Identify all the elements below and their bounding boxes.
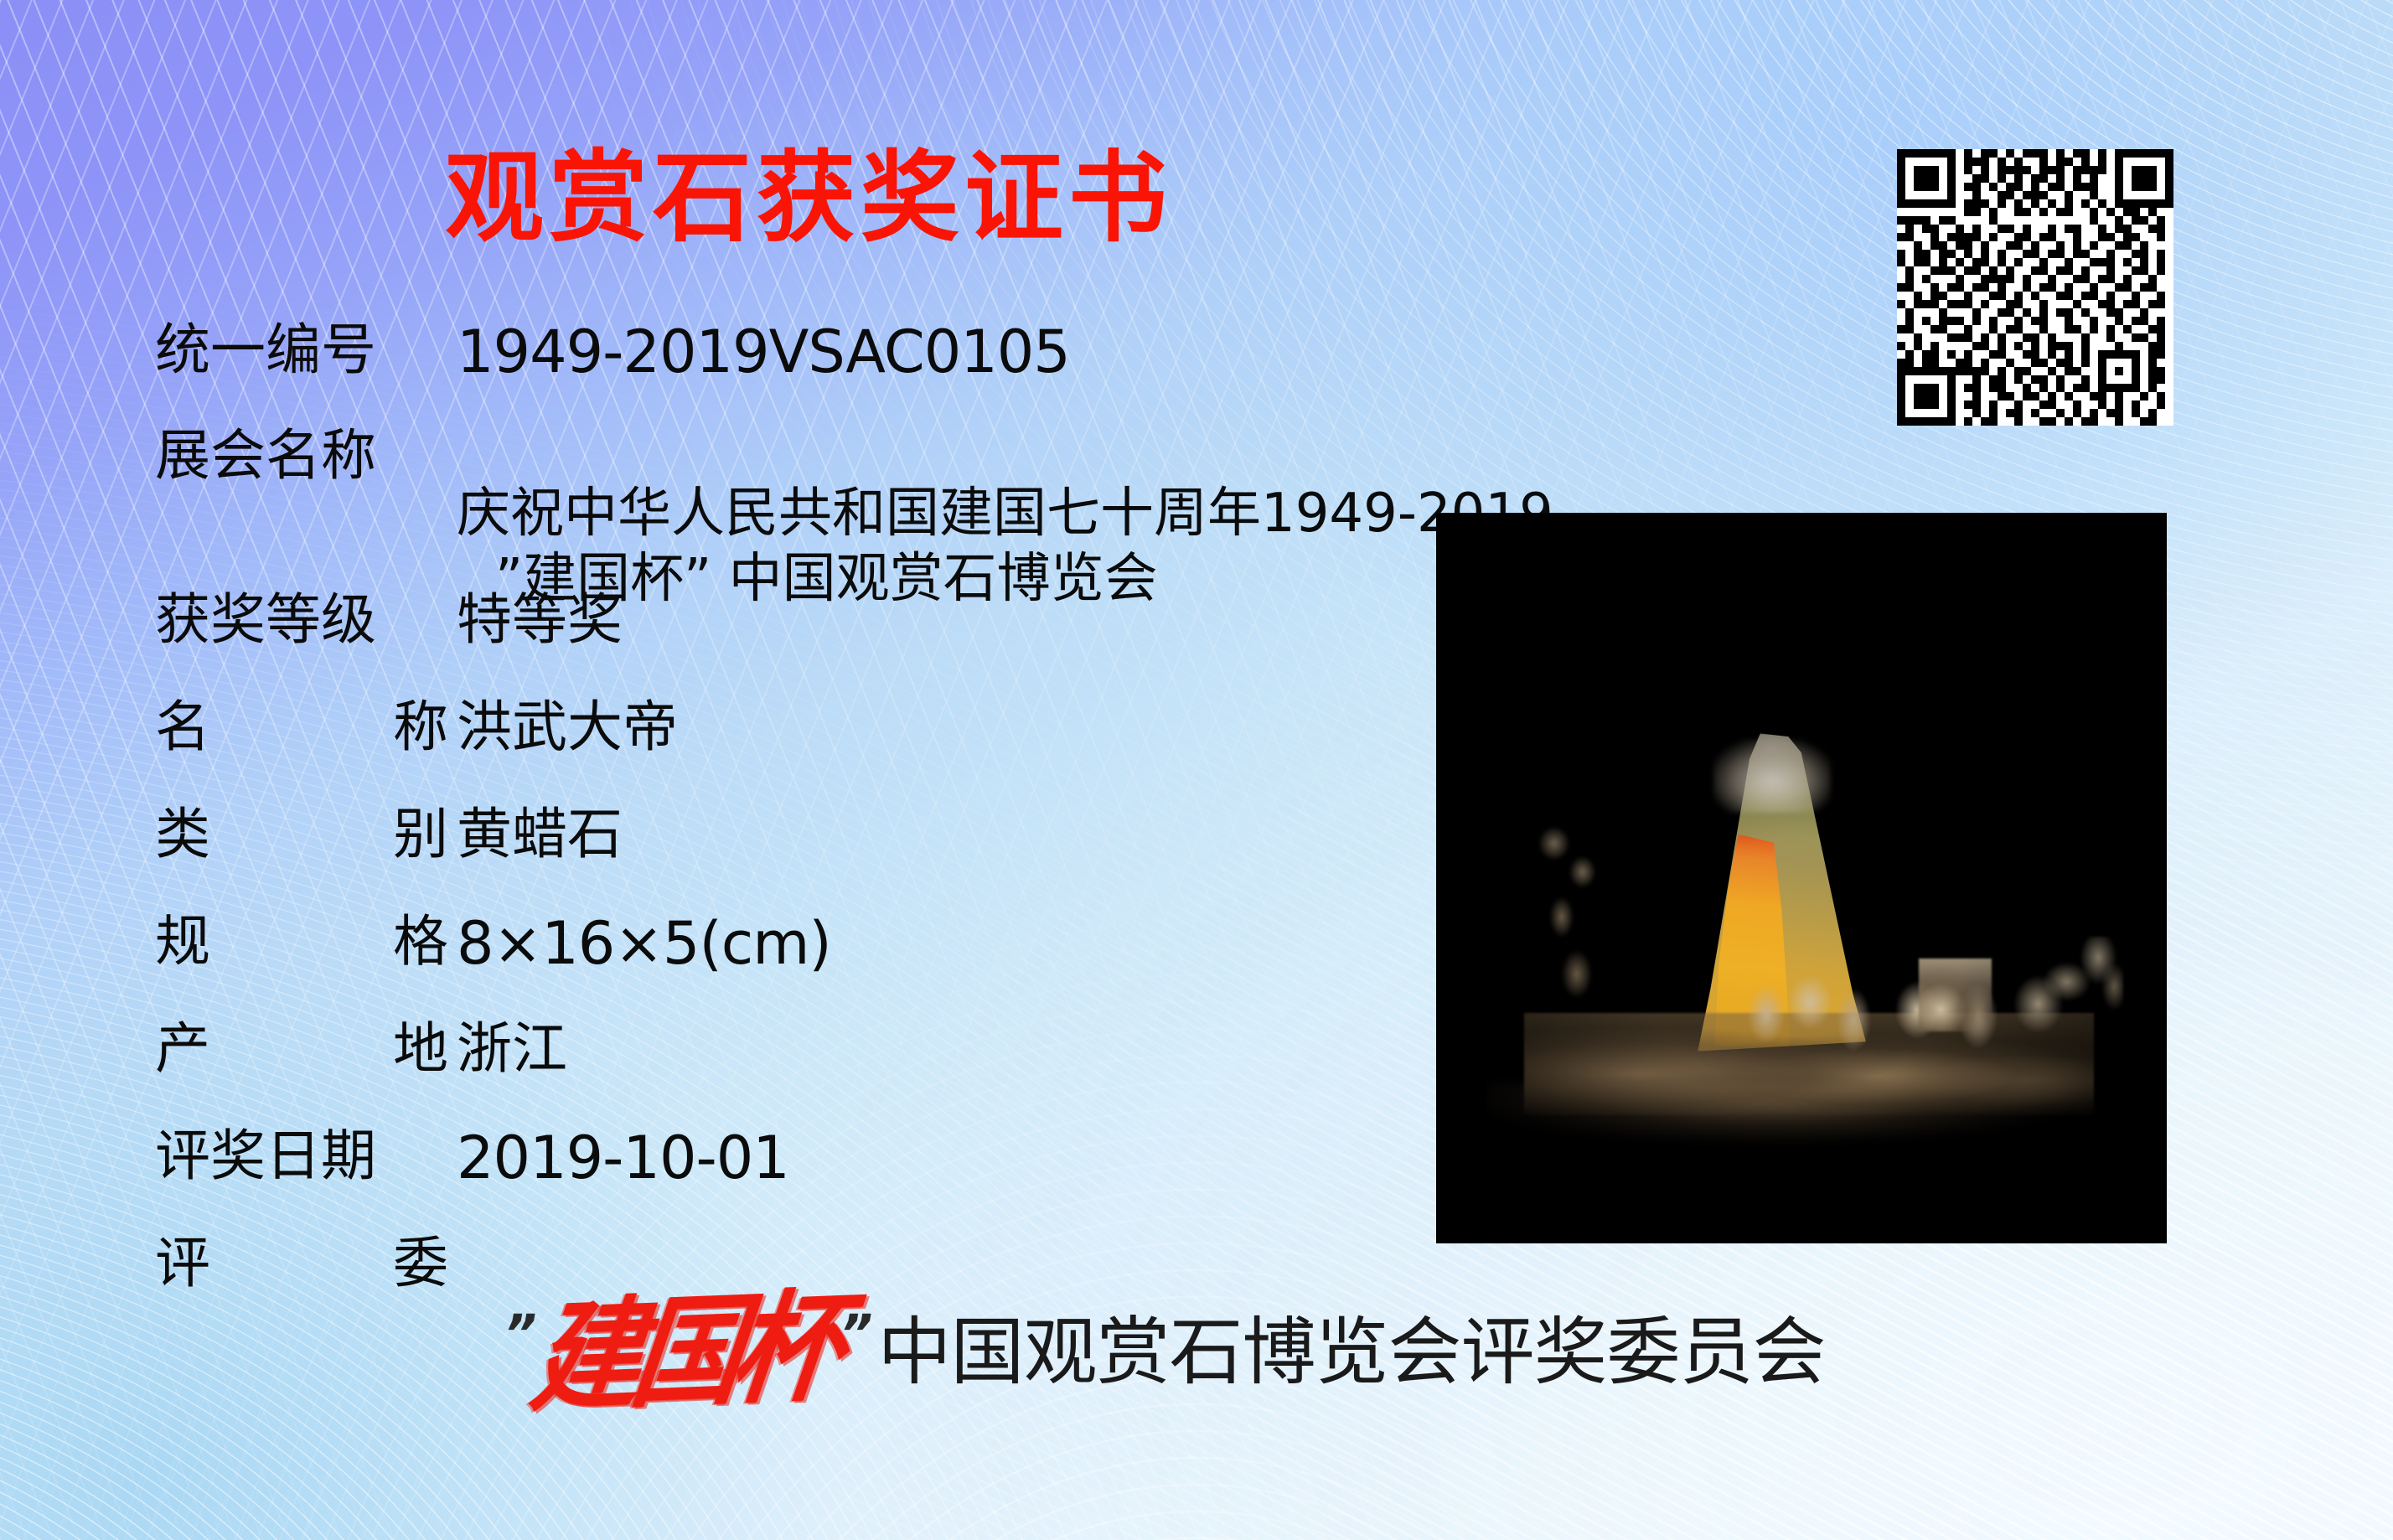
field-label-origin-a: 产 — [155, 1009, 210, 1089]
field-label-grade: 获奖等级 — [155, 580, 448, 660]
qr-code[interactable] — [1897, 149, 2173, 426]
certificate-page: 观赏石获奖证书 — [0, 0, 2393, 1540]
field-label-spec: 规 格 — [155, 902, 448, 982]
field-label-code: 统一编号 — [155, 310, 448, 390]
field-label-category-a: 类 — [155, 794, 210, 875]
field-value-code: 1949-2019VSAC0105 — [448, 310, 1070, 395]
page-title: 观赏石获奖证书 — [0, 142, 1617, 253]
issuing-organization: 中国观赏石博览会评奖委员会 — [873, 1315, 1826, 1389]
field-label-exhibition: 展会名称 — [155, 416, 448, 496]
field-label-origin-b: 地 — [393, 1009, 448, 1089]
field-label-category: 类 别 — [155, 794, 448, 875]
stone-photo — [1436, 513, 2167, 1243]
field-label-origin: 产 地 — [155, 1009, 448, 1089]
field-label-category-b: 别 — [393, 794, 448, 875]
field-value-origin: 浙江 — [448, 1009, 567, 1089]
signature-line: ” 建国杯 ” 中国观赏石博览会评奖委员会 — [503, 1304, 1826, 1401]
field-label-judge-a: 评 — [155, 1223, 210, 1304]
field-label-judge: 评 委 — [155, 1223, 448, 1304]
field-label-spec-a: 规 — [155, 902, 210, 982]
field-label-judge-b: 委 — [393, 1223, 448, 1304]
field-value-category: 黄蜡石 — [448, 794, 623, 875]
field-value-spec: 8×16×5(cm) — [448, 902, 831, 987]
field-value-name: 洪武大帝 — [448, 687, 678, 767]
field-label-name-b: 称 — [393, 687, 448, 767]
field-label-name-a: 名 — [155, 687, 210, 767]
field-label-spec-b: 格 — [393, 902, 448, 982]
field-value-exhibition-line1: 庆祝中华人民共和国建国七十周年1949-2019 — [457, 483, 1553, 545]
field-row-code: 统一编号 1949-2019VSAC0105 — [155, 310, 1915, 411]
brush-seal-jianguobei: 建国杯 — [510, 1285, 865, 1419]
field-label-date: 评奖日期 — [155, 1116, 448, 1196]
field-value-date: 2019-10-01 — [448, 1116, 789, 1202]
field-label-name: 名 称 — [155, 687, 448, 767]
field-value-grade: 特等奖 — [448, 580, 623, 660]
photo-vignette — [1436, 513, 2167, 1243]
